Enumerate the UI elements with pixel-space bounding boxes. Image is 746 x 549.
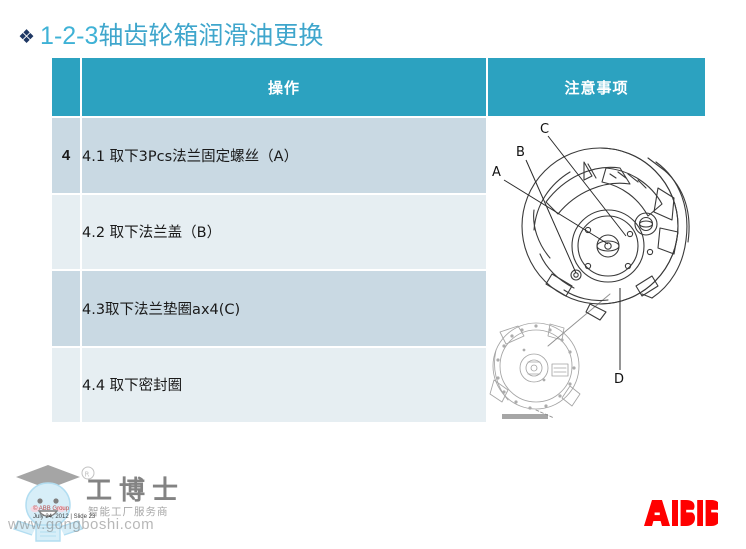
abb-logo-icon	[642, 500, 718, 526]
gearbox-flange-svg: A B C D	[488, 118, 705, 422]
abb-slide-info-text: July 24, 2012 | Slide 23	[33, 513, 95, 521]
row-operation-cell: 4.3取下法兰垫圈ax4(C)	[82, 271, 486, 346]
callout-label-d: D	[614, 372, 624, 387]
row-index-cell	[52, 195, 80, 270]
row-index-cell: 4	[52, 118, 80, 193]
table-header-row: 操作 注意事项	[52, 58, 705, 116]
page-title-number: 1-2-3	[40, 22, 98, 51]
abb-logo	[642, 500, 718, 531]
table-header: 操作 注意事项	[52, 58, 705, 116]
row-operation-cell: 4.2 取下法兰盖（B）	[82, 195, 486, 270]
page-title: ❖ 1-2-3 轴齿轮箱润滑油更换	[18, 16, 323, 52]
row-index-cell	[52, 271, 80, 346]
row-operation-cell: 4.4 取下密封圈	[82, 348, 486, 423]
callout-label-b: B	[516, 145, 525, 160]
row-index-cell	[52, 348, 80, 423]
row-operation-cell: 4.1 取下3Pcs法兰固定螺丝（A）	[82, 118, 486, 193]
watermark-brand-text: 工博士	[86, 470, 185, 507]
gearbox-flange-diagram: A B C D	[488, 118, 705, 422]
notes-figure-cell: A B C D	[488, 118, 705, 422]
table-row: 4 4.1 取下3Pcs法兰固定螺丝（A）	[52, 118, 705, 193]
table-body: 4 4.1 取下3Pcs法兰固定螺丝（A）	[52, 118, 705, 422]
procedure-table: 操作 注意事项 4 4.1 取下3Pcs法兰固定螺丝（A）	[50, 56, 707, 424]
abb-copyright-text: © ABB Group	[33, 505, 95, 513]
page-title-text: 轴齿轮箱润滑油更换	[98, 16, 323, 52]
column-header-index	[52, 58, 80, 116]
column-header-notes: 注意事项	[488, 58, 705, 116]
callout-label-c: C	[540, 122, 549, 137]
callout-label-a: A	[492, 165, 501, 180]
diamond-bullet-icon: ❖	[18, 28, 35, 47]
column-header-operation: 操作	[82, 58, 486, 116]
abb-slide-footer: © ABB Group July 24, 2012 | Slide 23	[33, 505, 95, 521]
